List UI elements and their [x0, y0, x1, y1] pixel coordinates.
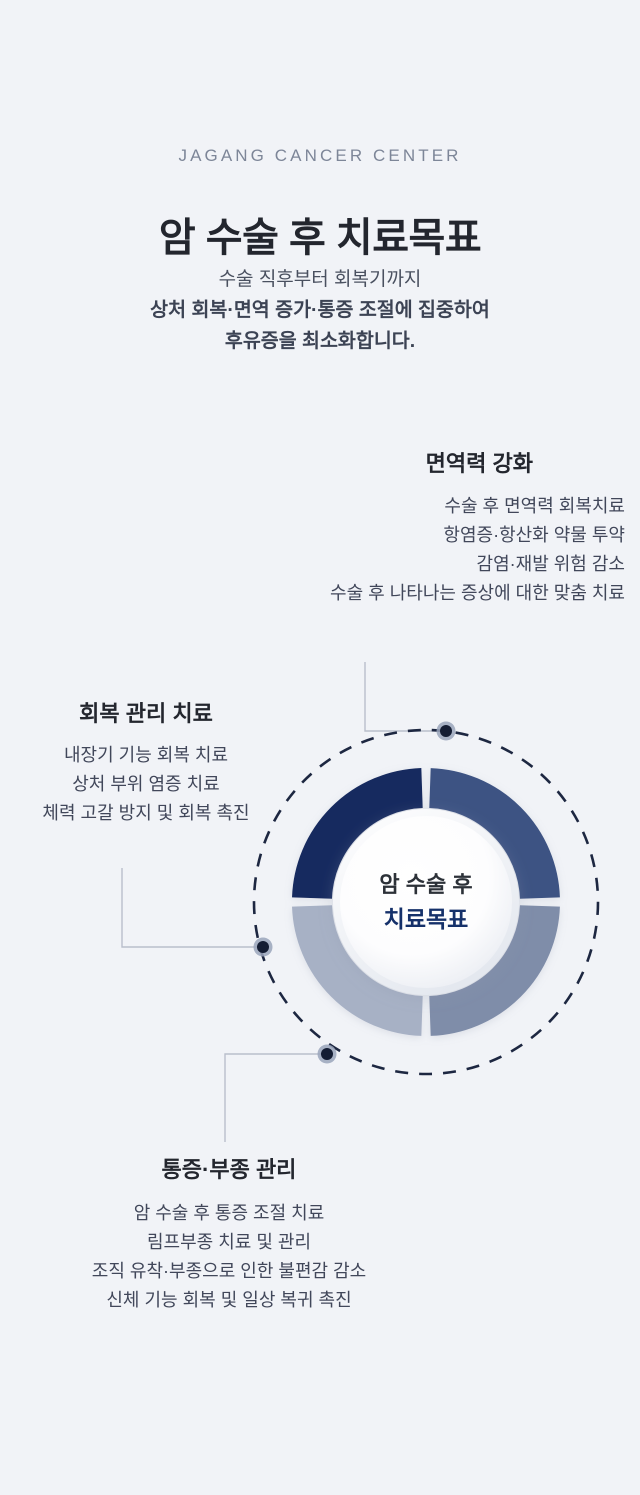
subtitle-line-2: 상처 회복·면역 증가·통증 조절에 집중하여	[0, 295, 640, 326]
section-recovery: 회복 관리 치료 내장기 기능 회복 치료 상처 부위 염증 치료 체력 고갈 …	[0, 696, 292, 828]
section-pain-line: 신체 기능 회복 및 일상 복귀 촉진	[0, 1286, 458, 1315]
recovery-marker-halo	[254, 938, 273, 957]
section-immunity-line: 수술 후 나타나는 증상에 대한 맞춤 치료	[0, 579, 625, 608]
leader-line-recovery	[122, 868, 263, 947]
donut-center-label: 암 수술 후 치료목표	[326, 868, 526, 936]
eyebrow-label: JAGANG CANCER CENTER	[0, 146, 640, 166]
center-label-line-2: 치료목표	[326, 902, 526, 936]
section-pain: 통증·부종 관리 암 수술 후 통증 조절 치료 림프부종 치료 및 관리 조직…	[0, 1152, 458, 1315]
section-pain-line: 조직 유착·부종으로 인한 불편감 감소	[0, 1257, 458, 1286]
subtitle-line-3: 후유증을 최소화합니다.	[0, 326, 640, 357]
subtitle: 수술 직후부터 회복기까지 상처 회복·면역 증가·통증 조절에 집중하여 후유…	[0, 264, 640, 357]
pain-marker-halo	[318, 1045, 337, 1064]
section-pain-line: 림프부종 치료 및 관리	[0, 1228, 458, 1257]
center-label-line-1: 암 수술 후	[326, 868, 526, 902]
pain-marker[interactable]	[321, 1048, 333, 1060]
leader-line-pain	[225, 1054, 327, 1142]
leader-line-immunity	[365, 662, 446, 731]
page-title: 암 수술 후 치료목표	[0, 205, 640, 263]
section-immunity-title: 면역력 강화	[0, 446, 533, 478]
infographic-root: JAGANG CANCER CENTER 암 수술 후 치료목표 수술 직후부터…	[0, 0, 640, 1495]
section-recovery-line: 체력 고갈 방지 및 회복 촉진	[0, 799, 292, 828]
section-immunity-line: 감염·재발 위험 감소	[0, 550, 625, 579]
section-recovery-line: 내장기 기능 회복 치료	[0, 741, 292, 770]
section-immunity-line: 수술 후 면역력 회복치료	[0, 492, 625, 521]
section-immunity: 면역력 강화 수술 후 면역력 회복치료 항염증·항산화 약물 투약 감염·재발…	[0, 446, 625, 608]
section-pain-line: 암 수술 후 통증 조절 치료	[0, 1199, 458, 1228]
section-immunity-line: 항염증·항산화 약물 투약	[0, 521, 625, 550]
subtitle-line-1: 수술 직후부터 회복기까지	[0, 264, 640, 295]
immunity-marker-halo	[437, 722, 456, 741]
section-recovery-title: 회복 관리 치료	[0, 696, 292, 728]
section-recovery-line: 상처 부위 염증 치료	[0, 770, 292, 799]
section-pain-title: 통증·부종 관리	[0, 1152, 458, 1184]
recovery-marker[interactable]	[257, 941, 269, 953]
immunity-marker[interactable]	[440, 725, 452, 737]
